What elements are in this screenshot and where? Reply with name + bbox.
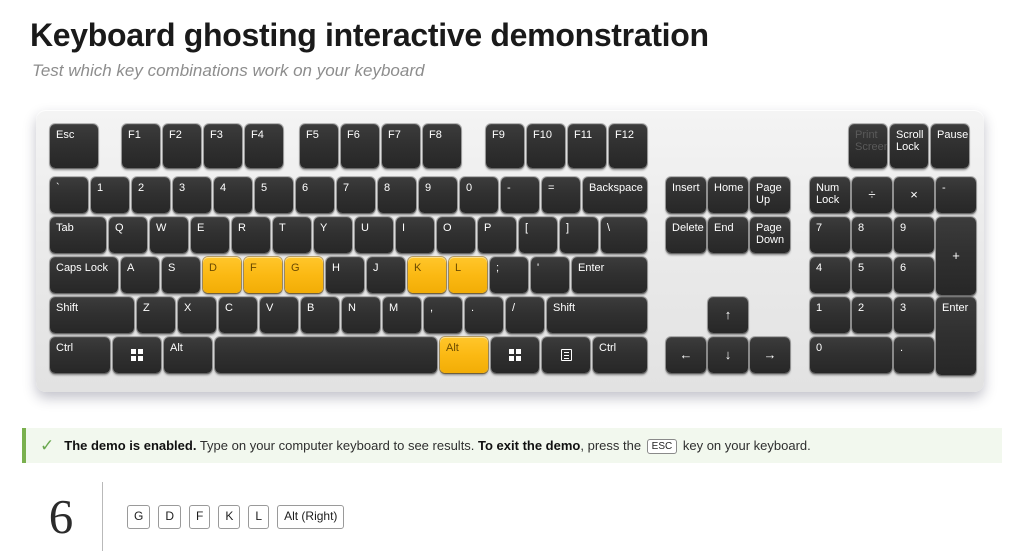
key-g[interactable]: G (285, 257, 323, 293)
key-s[interactable]: S (162, 257, 200, 293)
key-minus[interactable]: - (936, 177, 976, 213)
key-shift[interactable]: Shift (50, 297, 134, 333)
result-key-list: GDFKLAlt (Right) (127, 505, 344, 529)
key-home[interactable]: Home (708, 177, 748, 213)
key-u[interactable]: U (355, 217, 393, 253)
key-1[interactable]: 1 (810, 297, 850, 333)
key-a[interactable]: A (121, 257, 159, 293)
windows-icon (509, 349, 521, 361)
key-semicolon[interactable]: ; (490, 257, 528, 293)
key-backtick[interactable]: ` (50, 177, 88, 213)
key-c[interactable]: C (219, 297, 257, 333)
key-quote[interactable]: ' (531, 257, 569, 293)
key-arrow-up[interactable]: ↑ (708, 297, 748, 333)
key-num-lock[interactable]: Num Lock (810, 177, 850, 213)
key-page-down[interactable]: Page Down (750, 217, 790, 253)
key-bracket-right[interactable]: ] (560, 217, 598, 253)
key-end[interactable]: End (708, 217, 748, 253)
result-key-badge: G (127, 505, 150, 529)
key-windows-icon[interactable] (113, 337, 161, 373)
key-d[interactable]: D (203, 257, 241, 293)
result-key-badge: K (218, 505, 240, 529)
key-4[interactable]: 4 (214, 177, 252, 213)
key-3[interactable]: 3 (894, 297, 934, 333)
result-key-badge: L (248, 505, 269, 529)
key-tab[interactable]: Tab (50, 217, 106, 253)
page-subtitle: Test which key combinations work on your… (0, 54, 1024, 81)
key-m[interactable]: M (383, 297, 421, 333)
key-arrow-left[interactable]: ← (666, 337, 706, 373)
key-enter[interactable]: Enter (572, 257, 647, 293)
key-9[interactable]: 9 (419, 177, 457, 213)
key-ctrl[interactable]: Ctrl (593, 337, 647, 373)
key-period[interactable]: . (894, 337, 934, 373)
key-w[interactable]: W (150, 217, 188, 253)
key-0[interactable]: 0 (810, 337, 892, 373)
keyboard-bezel: EscF1F2F3F4F5F6F7F8F9F10F11F12Print Scre… (36, 110, 984, 392)
key-scroll-lock[interactable]: Scroll Lock (890, 124, 928, 168)
key-backspace[interactable]: Backspace (583, 177, 647, 213)
key-insert[interactable]: Insert (666, 177, 706, 213)
key-windows-icon[interactable] (491, 337, 539, 373)
key-k[interactable]: K (408, 257, 446, 293)
key-8[interactable]: 8 (852, 217, 892, 253)
key-f10[interactable]: F10 (527, 124, 565, 168)
status-exit-before: , press the (580, 438, 644, 453)
result-key-badge: Alt (Right) (277, 505, 344, 529)
key-ctrl[interactable]: Ctrl (50, 337, 110, 373)
key-comma[interactable]: , (424, 297, 462, 333)
key-r[interactable]: R (232, 217, 270, 253)
key-l[interactable]: L (449, 257, 487, 293)
key-h[interactable]: H (326, 257, 364, 293)
key-menu-icon[interactable] (542, 337, 590, 373)
result-divider (102, 482, 103, 551)
key-page-up[interactable]: Page Up (750, 177, 790, 213)
status-banner: ✓ The demo is enabled. Type on your comp… (22, 428, 1002, 463)
result-count: 6 (30, 492, 92, 541)
key-f12[interactable]: F12 (609, 124, 647, 168)
key-bracket-left[interactable]: [ (519, 217, 557, 253)
key-i[interactable]: I (396, 217, 434, 253)
keyboard-keys-container: EscF1F2F3F4F5F6F7F8F9F10F11F12Print Scre… (36, 110, 984, 392)
key-9[interactable]: 9 (894, 217, 934, 253)
key-period[interactable]: . (465, 297, 503, 333)
key-b[interactable]: B (301, 297, 339, 333)
key-3[interactable]: 3 (173, 177, 211, 213)
key-1[interactable]: 1 (91, 177, 129, 213)
key-6[interactable]: 6 (296, 177, 334, 213)
key-alt[interactable]: Alt (164, 337, 212, 373)
key-v[interactable]: V (260, 297, 298, 333)
key-f7[interactable]: F7 (382, 124, 420, 168)
key-minus[interactable]: - (501, 177, 539, 213)
key-esc[interactable]: Esc (50, 124, 98, 168)
key-n[interactable]: N (342, 297, 380, 333)
status-enabled-label: The demo is enabled. (64, 438, 196, 453)
key-slash[interactable]: / (506, 297, 544, 333)
menu-icon (561, 349, 572, 361)
key-f8[interactable]: F8 (423, 124, 461, 168)
key-f2[interactable]: F2 (163, 124, 201, 168)
key-6[interactable]: 6 (894, 257, 934, 293)
esc-key-cap: ESC (647, 439, 678, 454)
key-f11[interactable]: F11 (568, 124, 606, 168)
key-o[interactable]: O (437, 217, 475, 253)
check-icon: ✓ (40, 437, 54, 454)
key-equals[interactable]: = (542, 177, 580, 213)
key-8[interactable]: 8 (378, 177, 416, 213)
key-arrow-down[interactable]: ↓ (708, 337, 748, 373)
key-backslash[interactable]: \ (601, 217, 647, 253)
key-f1[interactable]: F1 (122, 124, 160, 168)
key-7[interactable]: 7 (337, 177, 375, 213)
status-instruction: Type on your computer keyboard to see re… (196, 438, 478, 453)
key-2[interactable]: 2 (852, 297, 892, 333)
key-delete[interactable]: Delete (666, 217, 706, 253)
status-exit-after: key on your keyboard. (679, 438, 811, 453)
key-2[interactable]: 2 (132, 177, 170, 213)
key-7[interactable]: 7 (810, 217, 850, 253)
result-key-badge: F (189, 505, 210, 529)
key-space[interactable] (215, 337, 437, 373)
status-text: The demo is enabled. Type on your comput… (64, 438, 811, 454)
key-f4[interactable]: F4 (245, 124, 283, 168)
result-row: 6 GDFKLAlt (Right) (30, 482, 344, 551)
key-5[interactable]: 5 (255, 177, 293, 213)
key-f3[interactable]: F3 (204, 124, 242, 168)
key-f[interactable]: F (244, 257, 282, 293)
key-q[interactable]: Q (109, 217, 147, 253)
keyboard-demo: EscF1F2F3F4F5F6F7F8F9F10F11F12Print Scre… (36, 110, 984, 392)
key-print-screen[interactable]: Print Screen (849, 124, 887, 168)
key-plus[interactable]: + (936, 217, 976, 295)
status-exit-label: To exit the demo (478, 438, 580, 453)
key-caps-lock[interactable]: Caps Lock (50, 257, 118, 293)
key-4[interactable]: 4 (810, 257, 850, 293)
key-0[interactable]: 0 (460, 177, 498, 213)
key-z[interactable]: Z (137, 297, 175, 333)
key-x[interactable]: X (178, 297, 216, 333)
key-t[interactable]: T (273, 217, 311, 253)
key-e[interactable]: E (191, 217, 229, 253)
key-5[interactable]: 5 (852, 257, 892, 293)
key-f5[interactable]: F5 (300, 124, 338, 168)
key-shift[interactable]: Shift (547, 297, 647, 333)
key-arrow-right[interactable]: → (750, 337, 790, 373)
key-j[interactable]: J (367, 257, 405, 293)
key-p[interactable]: P (478, 217, 516, 253)
key-enter[interactable]: Enter (936, 297, 976, 375)
key-divide[interactable]: ÷ (852, 177, 892, 213)
key-alt[interactable]: Alt (440, 337, 488, 373)
key-f9[interactable]: F9 (486, 124, 524, 168)
page-title: Keyboard ghosting interactive demonstrat… (0, 0, 1024, 54)
key-f6[interactable]: F6 (341, 124, 379, 168)
key-pause[interactable]: Pause (931, 124, 969, 168)
key-y[interactable]: Y (314, 217, 352, 253)
key-multiply[interactable]: × (894, 177, 934, 213)
windows-icon (131, 349, 143, 361)
result-key-badge: D (158, 505, 181, 529)
